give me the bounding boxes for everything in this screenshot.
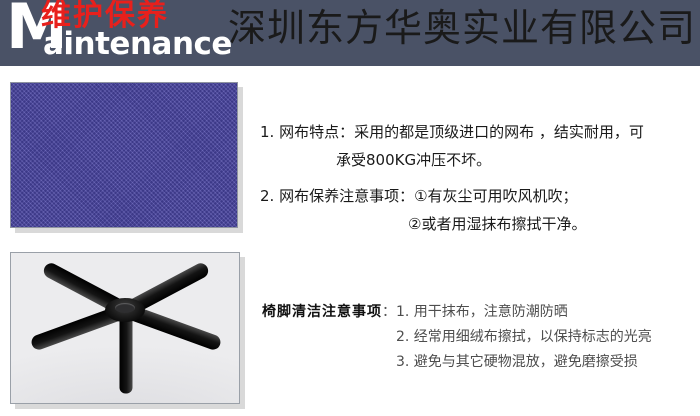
base-notes-row: 椅脚清洁注意事项 ： 1. 用干抹布，注意防潮防晒 2. 经常用细绒布擦拭，以保…	[262, 300, 698, 375]
mesh-note-text: 网布特点：采用的都是顶级进口的网布 ，结实耐用，可	[279, 123, 644, 141]
list-item: 2. 经常用细绒布擦拭，以保持标志的光亮	[396, 325, 652, 350]
chair-base-image	[10, 252, 240, 404]
brand-logo: M 维护保养 aintenance	[4, 0, 234, 66]
mesh-note-line: 1. 网布特点：采用的都是顶级进口的网布 ，结实耐用，可	[260, 118, 696, 146]
mesh-note-line: ②或者用湿抹布擦拭干净。	[260, 210, 696, 238]
list-item: 1. 用干抹布，注意防潮防晒	[396, 300, 652, 325]
mesh-note-text: 网布保养注意事项：①有灰尘可用吹风机吹；	[279, 187, 577, 205]
mesh-note-item: 2. 网布保养注意事项：①有灰尘可用吹风机吹； ②或者用湿抹布擦拭干净。	[260, 182, 696, 238]
page-header: M 维护保养 aintenance 深圳东方华奥实业有限公司	[0, 0, 700, 66]
header-inner: M 维护保养 aintenance 深圳东方华奥实业有限公司	[0, 0, 700, 66]
base-notes-list: 1. 用干抹布，注意防潮防晒 2. 经常用细绒布擦拭，以保持标志的光亮 3. 避…	[396, 300, 652, 375]
list-item: 3. 避免与其它硬物混放，避免磨擦受损	[396, 350, 652, 375]
base-notes-colon: ：	[382, 300, 396, 325]
maintenance-page: M 维护保养 aintenance 深圳东方华奥实业有限公司 1. 网布特点：采…	[0, 0, 700, 416]
base-notes-block: 椅脚清洁注意事项 ： 1. 用干抹布，注意防潮防晒 2. 经常用细绒布擦拭，以保…	[262, 300, 698, 375]
chair-base-photo	[11, 253, 239, 403]
mesh-note-index: 2.	[260, 187, 274, 205]
mesh-note-line: 承受800KG冲压不坏。	[260, 146, 696, 174]
mesh-fabric-image	[10, 82, 238, 228]
brand-english-title: aintenance	[43, 29, 232, 60]
mesh-note-index: 1.	[260, 123, 274, 141]
mesh-note-line: 2. 网布保养注意事项：①有灰尘可用吹风机吹；	[260, 182, 696, 210]
spacer	[260, 174, 696, 182]
chair-base-hub-hole	[115, 303, 135, 313]
mesh-note-item: 1. 网布特点：采用的都是顶级进口的网布 ，结实耐用，可 承受800KG冲压不坏…	[260, 118, 696, 174]
mesh-notes-block: 1. 网布特点：采用的都是顶级进口的网布 ，结实耐用，可 承受800KG冲压不坏…	[260, 118, 696, 238]
company-name: 深圳东方华奥实业有限公司	[228, 4, 696, 52]
base-notes-label: 椅脚清洁注意事项	[262, 300, 382, 325]
